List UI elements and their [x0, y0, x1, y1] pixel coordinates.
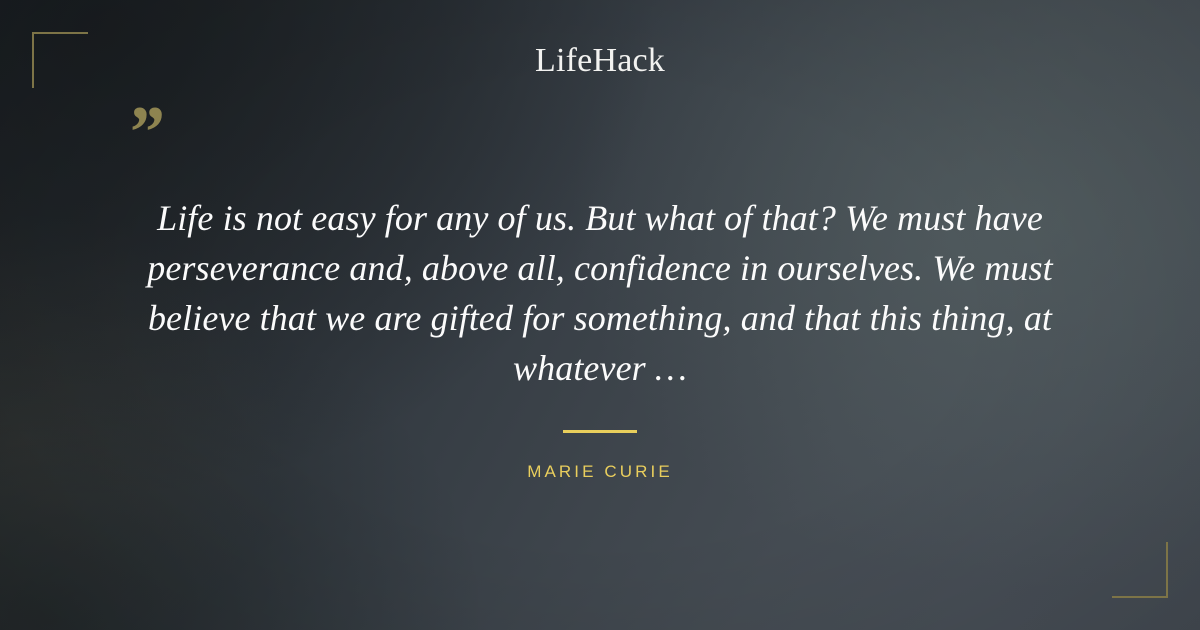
quote-body: Life is not easy for any of us. But what…: [100, 193, 1100, 393]
quote-card: LifeHack ” Life is not easy for any of u…: [0, 0, 1200, 630]
author-name: MARIE CURIE: [0, 462, 1200, 482]
gold-divider: [563, 430, 637, 433]
attribution: MARIE CURIE: [0, 430, 1200, 482]
quotation-mark-icon: ”: [126, 96, 163, 170]
brand-logo: LifeHack: [0, 41, 1200, 81]
corner-bracket-bottom-right-icon: [1112, 542, 1168, 598]
